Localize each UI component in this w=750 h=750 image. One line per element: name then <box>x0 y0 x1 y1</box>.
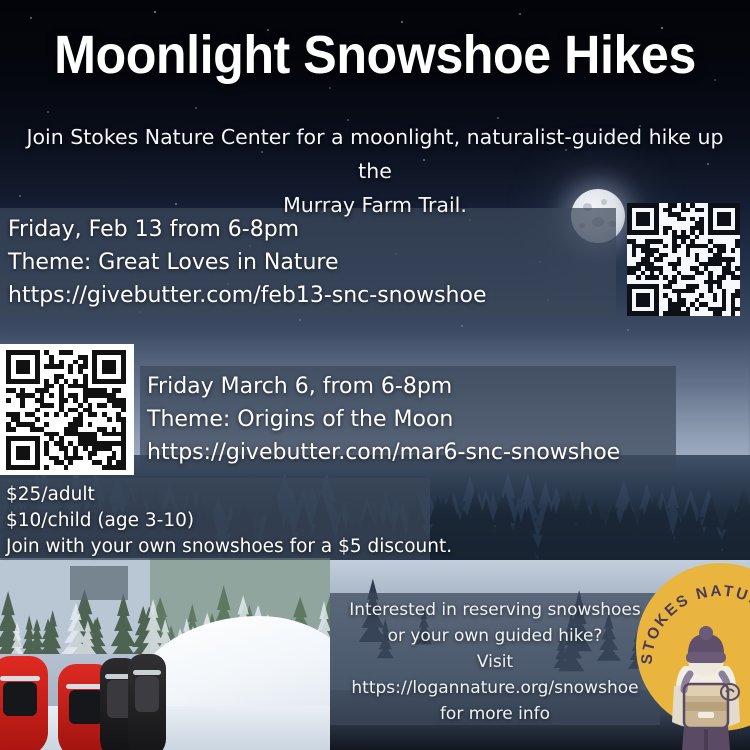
event-mar6-theme: Theme: Origins of the Moon <box>147 403 620 436</box>
price-discount: Join with your own snowshoes for a $5 di… <box>6 534 452 560</box>
event-mar6: Friday March 6, from 6-8pm Theme: Origin… <box>147 370 620 469</box>
snowshoe-red-1 <box>0 656 48 750</box>
subtitle-line-1: Join Stokes Nature Center for a moonligh… <box>8 120 742 188</box>
event-feb13: Friday, Feb 13 from 6-8pm Theme: Great L… <box>8 213 486 312</box>
info-line-4[interactable]: https://logannature.org/snowshoe <box>330 675 660 701</box>
event-feb13-date: Friday, Feb 13 from 6-8pm <box>8 213 486 246</box>
info-line-1: Interested in reserving snowshoes <box>330 597 660 623</box>
reservation-info: Interested in reserving snowshoes or you… <box>330 597 660 727</box>
snowshoe-black-2 <box>128 654 166 750</box>
event-feb13-theme: Theme: Great Loves in Nature <box>8 246 486 279</box>
page-title: Moonlight Snowshoe Hikes <box>26 24 724 86</box>
hiker-illustration <box>660 618 750 750</box>
price-adult: $25/adult <box>6 482 452 508</box>
info-line-2: or your own guided hike? <box>330 623 660 649</box>
event-mar6-date: Friday March 6, from 6-8pm <box>147 370 620 403</box>
event-mar6-url[interactable]: https://givebutter.com/mar6-snc-snowshoe <box>147 436 620 469</box>
event-feb13-url[interactable]: https://givebutter.com/feb13-snc-snowsho… <box>8 279 486 312</box>
info-line-5: for more info <box>330 701 660 727</box>
qr-code-mar6[interactable] <box>6 350 126 470</box>
snowshoe-photo <box>0 558 330 750</box>
pricing-info: $25/adult $10/child (age 3-10) Join with… <box>6 482 452 560</box>
poster-canvas: Moonlight Snowshoe Hikes Join Stokes Nat… <box>0 0 750 750</box>
qr-code-feb13[interactable] <box>627 203 740 316</box>
info-line-3: Visit <box>330 649 660 675</box>
price-child: $10/child (age 3-10) <box>6 508 452 534</box>
